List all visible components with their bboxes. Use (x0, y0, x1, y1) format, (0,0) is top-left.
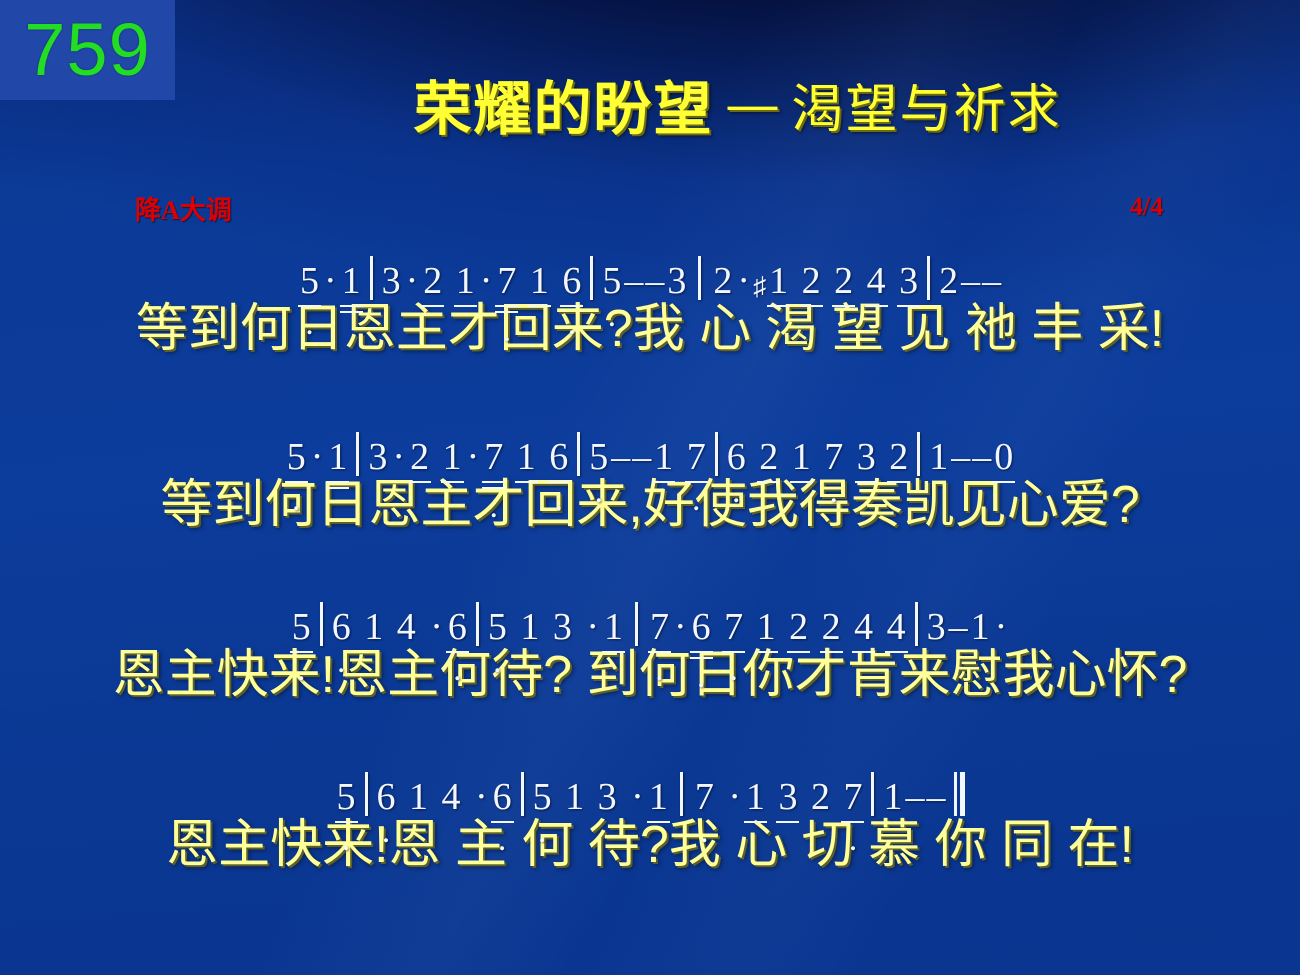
note-4: 4 (852, 608, 875, 646)
barline (365, 772, 368, 816)
note-5: 5. (600, 262, 623, 300)
note-6: 6. (725, 438, 748, 476)
sustain-dash: – (631, 438, 652, 476)
note-7: 7. (685, 438, 708, 476)
key-signature: 降A大调 (135, 190, 232, 227)
barline (680, 772, 683, 816)
note-gap (505, 438, 515, 476)
hymn-number: 759 (24, 13, 150, 87)
sustain-dash: – (644, 262, 665, 300)
note-6: 6. (330, 608, 353, 646)
note-gap (518, 262, 528, 300)
note-gap (619, 778, 629, 816)
note-7: 7. (722, 608, 745, 646)
note-6: 6. (491, 778, 514, 816)
note-3: 3 (596, 778, 619, 816)
duration-dot: · (403, 262, 422, 300)
time-signature: 4/4 (1130, 192, 1163, 222)
note-gap (855, 262, 865, 300)
note-gap (431, 438, 441, 476)
note-4: 4 (440, 778, 463, 816)
note-1: 1 (518, 608, 541, 646)
lyric-line-2: 等到何日恩主才回来,好使我得奏凯见心爱? (0, 478, 1300, 533)
note-gap (745, 608, 755, 646)
note-gap (810, 608, 820, 646)
note-1: 1 (652, 438, 675, 476)
duration-dot: · (583, 608, 602, 646)
note-1: 1 (515, 438, 538, 476)
duration-dot: · (725, 778, 744, 816)
sustain-dash: – (960, 262, 981, 300)
duration-dot: · (321, 262, 340, 300)
note-gap (430, 778, 440, 816)
note-6: 6. (690, 608, 713, 646)
sharp-accidental-icon: ♯ (753, 274, 767, 300)
sustain-dash: – (904, 778, 925, 816)
note-gap (574, 608, 584, 646)
note-4: 4 (885, 608, 908, 646)
note-5: 5. (531, 778, 554, 816)
note-2: 2 (787, 608, 810, 646)
note-3: 3 (776, 778, 799, 816)
note-4: 4 (395, 608, 418, 646)
barline (917, 432, 920, 476)
note-gap (778, 608, 788, 646)
note-5: 5. (298, 262, 321, 300)
note-gap (554, 778, 564, 816)
note-2: 2 (937, 262, 960, 300)
barline (590, 256, 593, 300)
lyric-line-1: 等到何日恩主才回来?我 心 渴 望 见 祂 丰 采! (0, 302, 1300, 357)
barline (356, 432, 359, 476)
note-gap (398, 778, 408, 816)
note-7: 7. (822, 438, 845, 476)
sustain-dash: – (610, 438, 631, 476)
note-1: 1 (790, 438, 813, 476)
note-gap (748, 438, 758, 476)
note-gap (716, 778, 726, 816)
note-3: 3 (855, 438, 878, 476)
note-2: 2 (809, 778, 832, 816)
note-gap (799, 778, 809, 816)
sustain-dash: – (948, 608, 969, 646)
stave-3: 5.6. 1 4 ·6.5. 1 3 ·17.·6. 7. 1 2 2 4 43… (0, 588, 1300, 703)
note-1: 1 (755, 608, 778, 646)
note-7: 7. (693, 778, 716, 816)
barline (320, 602, 323, 646)
barline (715, 432, 718, 476)
note-gap (385, 608, 395, 646)
note-5: 5. (486, 608, 509, 646)
note-2: 2 (832, 262, 855, 300)
note-1: 1 (767, 262, 790, 300)
note-gap (875, 608, 885, 646)
duration-dot: · (734, 262, 753, 300)
barline (370, 256, 373, 300)
note-gap (353, 608, 363, 646)
note-gap (444, 262, 454, 300)
note-5: 5. (285, 438, 308, 476)
duration-dot: · (671, 608, 690, 646)
notation-line-4: 5.6. 1 4 ·6.5. 1 3 ·17. ·1 3 2 7.1–– (0, 758, 1300, 816)
note-2: 2 (887, 438, 910, 476)
note-6: 6. (375, 778, 398, 816)
note-1: 1 (602, 608, 625, 646)
note-1: 1 (563, 778, 586, 816)
note-1: 1 (528, 262, 551, 300)
note-7: 7. (495, 262, 518, 300)
note-3: 3 (551, 608, 574, 646)
note-gap (888, 262, 898, 300)
note-3: 3 (897, 262, 920, 300)
note-1: 1 (454, 262, 477, 300)
barline (577, 432, 580, 476)
barline (871, 772, 874, 816)
final-barline (954, 772, 965, 816)
sustain-dash: – (623, 262, 644, 300)
slide-title: 荣耀的盼望—渴望与祈求 (175, 62, 1300, 146)
title-subtitle: 渴望与祈求 (792, 67, 1062, 142)
note-1: 1 (744, 778, 767, 816)
note-1: 1 (647, 778, 670, 816)
note-2: 2 (757, 438, 780, 476)
note-gap (675, 438, 685, 476)
note-gap (813, 438, 823, 476)
note-1: 1 (881, 778, 904, 816)
barline (521, 772, 524, 816)
note-2: 2 (421, 262, 444, 300)
note-gap (832, 778, 842, 816)
duration-dot: · (427, 608, 446, 646)
note-1: 1 (969, 608, 992, 646)
sustain-dash: – (981, 262, 1002, 300)
note-3: 3 (665, 262, 688, 300)
note-1: 1 (441, 438, 464, 476)
barline (915, 602, 918, 646)
lyric-line-3: 恩主快来!恩主何待? 到何日你才肯来慰我心怀? (0, 648, 1300, 703)
note-2: 2 (800, 262, 823, 300)
lyric-line-4: 恩主快来!恩 主 何 待?我 心 切 慕 你 同 在! (0, 818, 1300, 873)
note-gap (878, 438, 888, 476)
note-gap (790, 262, 800, 300)
duration-dot: · (628, 778, 647, 816)
note-1: 1 (927, 438, 950, 476)
note-gap (713, 608, 723, 646)
notation-line-2: 5.·13·2 1·7. 1 6.5.––1 7.6. 2 1 7. 3 21–… (0, 418, 1300, 476)
note-6: 6. (446, 608, 469, 646)
duration-dot: · (472, 778, 491, 816)
stave-2: 5.·13·2 1·7. 1 6.5.––1 7.6. 2 1 7. 3 21–… (0, 418, 1300, 533)
duration-dot: · (389, 438, 408, 476)
barline (635, 602, 638, 646)
note-gap (767, 778, 777, 816)
note-2: 2 (408, 438, 431, 476)
note-gap (509, 608, 519, 646)
note-gap (586, 778, 596, 816)
note-7: 7. (841, 778, 864, 816)
note-6: 6. (547, 438, 570, 476)
title-main: 荣耀的盼望 (413, 62, 713, 146)
notation-line-3: 5.6. 1 4 ·6.5. 1 3 ·17.·6. 7. 1 2 2 4 43… (0, 588, 1300, 646)
note-gap (843, 608, 853, 646)
note-3: 3 (380, 262, 403, 300)
note-2: 2 (711, 262, 734, 300)
note-1: 1 (326, 438, 349, 476)
note-gap (418, 608, 428, 646)
duration-dot: · (464, 438, 483, 476)
note-1: 1 (362, 608, 385, 646)
note-gap (541, 608, 551, 646)
note-6: 6. (560, 262, 583, 300)
barline (476, 602, 479, 646)
barline (927, 256, 930, 300)
sustain-dash: – (971, 438, 992, 476)
title-dash: — (714, 75, 792, 133)
note-5: 5. (335, 778, 358, 816)
note-0: 0 (992, 438, 1015, 476)
note-gap (845, 438, 855, 476)
note-gap (551, 262, 561, 300)
note-7: 7. (482, 438, 505, 476)
note-7: 7. (648, 608, 671, 646)
note-3: 3 (366, 438, 389, 476)
notation-line-1: 5.·13·2 1·7. 1 6.5.––32·♯1 2 2 4 32–– (0, 242, 1300, 300)
note-5: 5. (290, 608, 313, 646)
note-gap (780, 438, 790, 476)
duration-dot: · (308, 438, 327, 476)
hymn-number-badge: 759 (0, 0, 175, 100)
duration-dot: · (992, 608, 1011, 646)
note-gap (463, 778, 473, 816)
note-3: 3 (925, 608, 948, 646)
note-1: 1 (407, 778, 430, 816)
note-2: 2 (820, 608, 843, 646)
note-gap (538, 438, 548, 476)
note-gap (823, 262, 833, 300)
note-4: 4 (865, 262, 888, 300)
hymn-slide: 759 荣耀的盼望—渴望与祈求 降A大调 4/4 5.·13·2 1·7. 1 … (0, 0, 1300, 975)
stave-4: 5.6. 1 4 ·6.5. 1 3 ·17. ·1 3 2 7.1–– 恩主快… (0, 758, 1300, 873)
sustain-dash: – (950, 438, 971, 476)
note-1: 1 (340, 262, 363, 300)
barline (698, 256, 701, 300)
sustain-dash: – (925, 778, 946, 816)
stave-1: 5.·13·2 1·7. 1 6.5.––32·♯1 2 2 4 32–– 等到… (0, 242, 1300, 357)
duration-dot: · (477, 262, 496, 300)
note-5: 5. (587, 438, 610, 476)
